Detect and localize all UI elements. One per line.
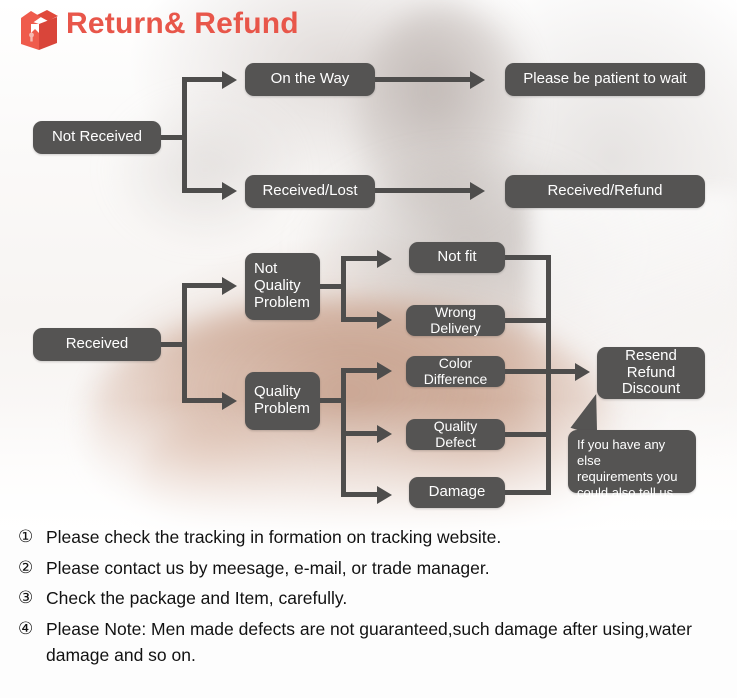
node-wrong-delivery[interactable]: Wrong Delivery <box>406 305 505 336</box>
collector-from-damage <box>505 490 550 495</box>
node-received-refund[interactable]: Received/Refund <box>505 175 705 208</box>
node-received-lost[interactable]: Received/Lost <box>245 175 375 208</box>
package-box-icon <box>17 7 61 51</box>
list-item-text: Please contact us by meesage, e-mail, or… <box>46 555 719 582</box>
collector-from-wrong-delivery <box>505 318 550 323</box>
collector-from-quality-defect <box>505 432 550 437</box>
list-item-number: ② <box>18 555 46 581</box>
arrow-to-wrong-delivery <box>377 311 392 329</box>
list-item: ③ Check the package and Item, carefully. <box>18 585 719 612</box>
callout-extra-requirements: If you have any else requirements you co… <box>568 430 696 493</box>
return-refund-infographic: Return& Refund Not Received On the Way R… <box>0 0 737 698</box>
node-not-received[interactable]: Not Received <box>33 121 161 154</box>
node-color-difference[interactable]: Color Difference <box>406 356 505 387</box>
arrow-to-quality-defect <box>377 425 392 443</box>
connector-quality-bus <box>341 368 346 492</box>
collector-bus <box>546 255 551 495</box>
notes-list: ① Please check the tracking in formation… <box>0 524 737 673</box>
arrow-to-quality <box>222 392 237 410</box>
connector-to-damage <box>341 492 379 497</box>
node-not-fit[interactable]: Not fit <box>409 242 505 273</box>
node-received[interactable]: Received <box>33 328 161 361</box>
page-title: Return& Refund <box>66 7 299 41</box>
node-damage[interactable]: Damage <box>409 477 505 508</box>
list-item-number: ③ <box>18 585 46 611</box>
collector-from-not-fit <box>505 255 550 260</box>
arrow-to-not-fit <box>377 250 392 268</box>
connector-to-quality <box>182 398 224 403</box>
node-quality-problem[interactable]: Quality Problem <box>245 372 320 430</box>
connector-to-resolution <box>546 369 578 374</box>
connector-lost-to-refund <box>375 188 472 193</box>
node-not-quality-problem[interactable]: Not Quality Problem <box>245 253 320 320</box>
connector-to-not-quality <box>182 283 224 288</box>
header: Return& Refund <box>0 0 737 58</box>
list-item: ② Please contact us by meesage, e-mail, … <box>18 555 719 582</box>
connector-to-wrong-delivery <box>341 317 379 322</box>
arrow-on-the-way-to-wait <box>470 71 485 89</box>
node-please-be-patient[interactable]: Please be patient to wait <box>505 63 705 96</box>
list-item-text: Please check the tracking in formation o… <box>46 524 719 551</box>
list-item-number: ① <box>18 524 46 550</box>
arrow-lost-to-refund <box>470 182 485 200</box>
node-quality-defect[interactable]: Quality Defect <box>406 419 505 450</box>
collector-from-color-difference <box>505 369 550 374</box>
node-resend-refund-discount[interactable]: Resend Refund Discount <box>597 347 705 399</box>
connector-not-quality-bus <box>341 256 346 322</box>
list-item-text: Please Note: Men made defects are not gu… <box>46 616 719 669</box>
arrow-to-received-lost <box>222 182 237 200</box>
arrow-to-not-quality <box>222 277 237 295</box>
connector-to-quality-defect <box>341 431 379 436</box>
connector-to-on-the-way <box>182 77 224 82</box>
connector-to-not-fit <box>341 256 379 261</box>
arrow-to-resolution <box>575 363 590 381</box>
arrow-to-color-difference <box>377 362 392 380</box>
connector-to-received-lost <box>182 188 224 193</box>
list-item-number: ④ <box>18 616 46 642</box>
node-on-the-way[interactable]: On the Way <box>245 63 375 96</box>
connector-on-the-way-to-wait <box>375 77 472 82</box>
connector-to-color-difference <box>341 368 379 373</box>
arrow-to-damage <box>377 486 392 504</box>
arrow-to-on-the-way <box>222 71 237 89</box>
connector-not-received-bus <box>182 77 187 193</box>
list-item: ④ Please Note: Men made defects are not … <box>18 616 719 669</box>
list-item: ① Please check the tracking in formation… <box>18 524 719 551</box>
connector-received-bus <box>182 283 187 403</box>
list-item-text: Check the package and Item, carefully. <box>46 585 719 612</box>
